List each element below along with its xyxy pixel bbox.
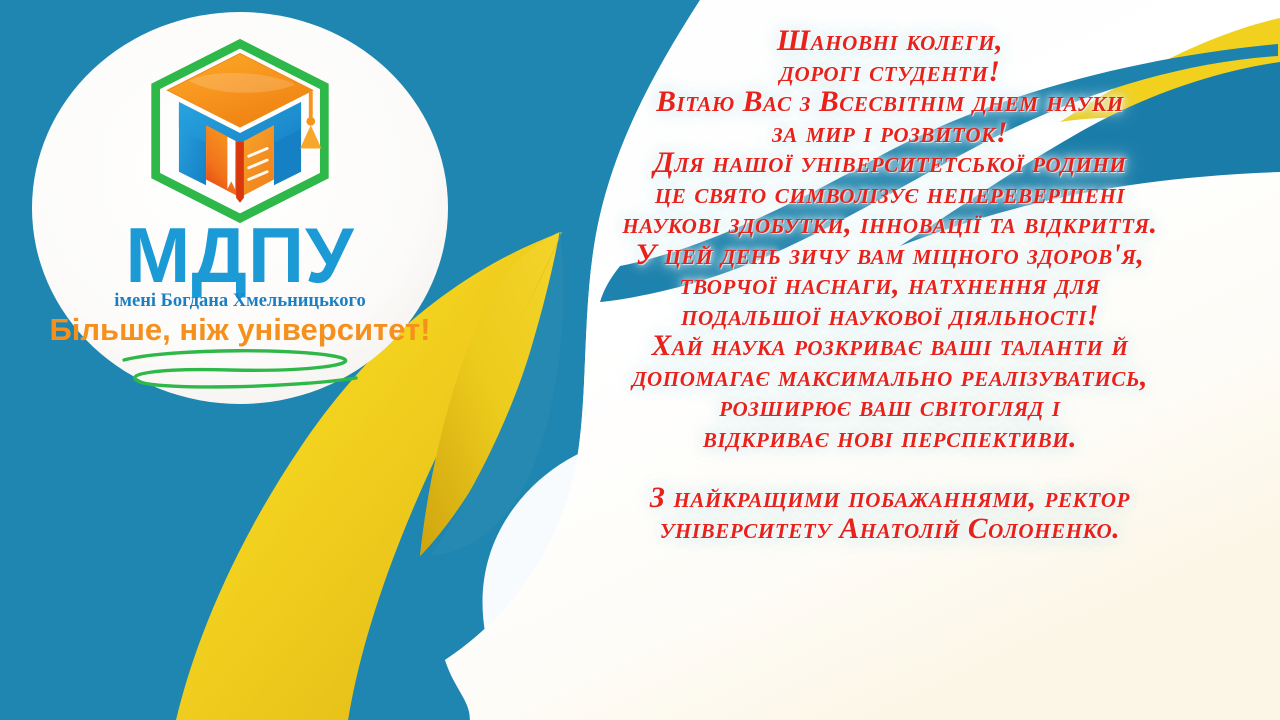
greeting-card: МДПУ імені Богдана Хмельницького Більше,… [0, 0, 1280, 720]
greeting-line: Шановні колеги, [520, 26, 1260, 57]
signature-line: З найкращими побажаннями, ректор [520, 483, 1260, 514]
greeting-line: Хай наука розкриває ваші таланти й [520, 331, 1260, 362]
green-swoosh-underline-icon [110, 346, 370, 392]
greeting-line: творчої наснаги, натхнення для [520, 270, 1260, 301]
greeting-line: У цей день зичу вам міцного здоров'я, [520, 240, 1260, 271]
greeting-line: допомагає максимально реалізуватись, [520, 362, 1260, 393]
greeting-spacer [520, 453, 1260, 483]
university-logo[interactable]: МДПУ імені Богдана Хмельницького Більше,… [20, 22, 460, 394]
greeting-line: це свято символізує неперевершені [520, 179, 1260, 210]
greeting-line: Вітаю Вас з Всесвітнім днем науки [520, 87, 1260, 118]
signature-line: університету Анатолій Солоненко. [520, 514, 1260, 545]
greeting-line: наукові здобутки, інновації та відкриття… [520, 209, 1260, 240]
logo-slogan: Більше, ніж університет! [49, 312, 430, 348]
greeting-line: дорогі студенти! [520, 57, 1260, 88]
logo-subtitle: імені Богдана Хмельницького [114, 291, 365, 312]
greeting-line: відкриває нові перспективи. [520, 423, 1260, 454]
greeting-line: подальшої наукової діяльності! [520, 301, 1260, 332]
greeting-line: розширює ваш світогляд і [520, 392, 1260, 423]
greeting-line: за мир і розвиток! [520, 118, 1260, 149]
logo-acronym: МДПУ [125, 222, 354, 289]
greeting-line: Для нашої університетської родини [520, 148, 1260, 179]
hexagon-graduation-cap-book-icon [136, 36, 344, 226]
greeting-message: Шановні колеги, дорогі студенти! Вітаю В… [520, 26, 1260, 545]
